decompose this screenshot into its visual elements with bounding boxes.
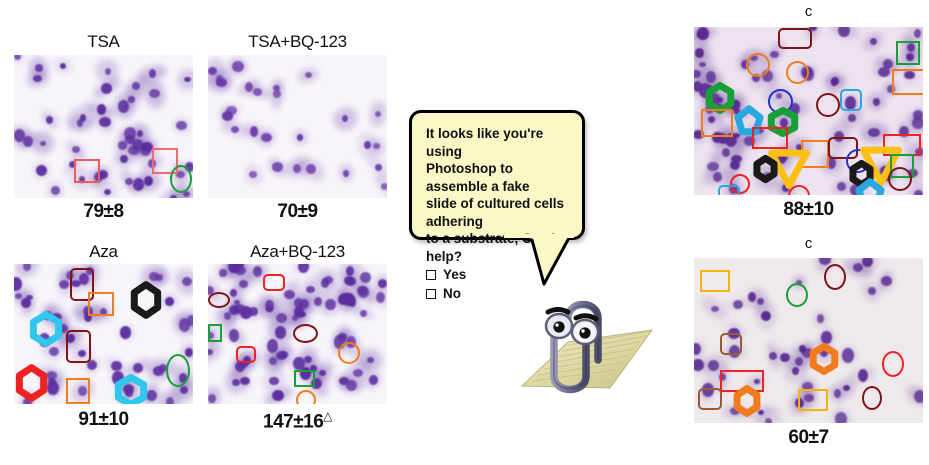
cell-cytoplasm xyxy=(170,183,193,198)
annotation-round-control-bottom-3 xyxy=(720,333,742,355)
cell-cytoplasm xyxy=(213,264,233,283)
cell-cytoplasm xyxy=(881,80,900,99)
cell-cytoplasm xyxy=(90,75,123,102)
panel-value-text: 79±8 xyxy=(83,201,123,222)
panel-title-aza: Aza xyxy=(14,243,193,260)
cell-cytoplasm xyxy=(694,27,712,50)
cell-cytoplasm xyxy=(328,102,362,135)
cell-nucleus xyxy=(184,77,191,82)
cell-nucleus xyxy=(728,328,740,338)
cell-cytoplasm xyxy=(694,39,714,68)
cell-cytoplasm xyxy=(138,264,170,291)
cell-nucleus xyxy=(276,351,287,360)
panel-title-tsa-bq123: TSA+BQ-123 xyxy=(208,33,387,50)
cell-cytoplasm xyxy=(320,269,337,290)
cell-cytoplasm xyxy=(116,377,141,402)
cell-nucleus xyxy=(907,43,916,52)
cell-cytoplasm xyxy=(44,378,62,399)
panel-value-aza: 91±10 xyxy=(14,410,193,429)
cell-cytoplasm xyxy=(69,342,95,365)
cell-nucleus xyxy=(80,114,86,122)
cell-cytoplasm xyxy=(137,142,155,157)
cell-nucleus xyxy=(853,263,863,272)
cell-cytoplasm xyxy=(26,55,51,81)
annotation-ellipse-control-top-1 xyxy=(746,53,770,77)
cell-nucleus xyxy=(26,295,32,300)
cell-cytoplasm xyxy=(293,130,308,145)
cell-cytoplasm xyxy=(289,354,310,373)
cell-cytoplasm xyxy=(154,385,187,404)
cell-nucleus xyxy=(790,103,800,115)
cell-nucleus xyxy=(343,170,350,177)
cell-nucleus xyxy=(801,66,812,77)
cell-nucleus xyxy=(845,96,856,110)
cell-cytoplasm xyxy=(316,290,344,319)
cell-nucleus xyxy=(754,379,760,384)
cell-cytoplasm xyxy=(87,165,109,191)
annotation-hex-control-top-5 xyxy=(708,85,732,111)
cell-nucleus xyxy=(304,356,313,363)
cell-cytoplasm xyxy=(860,29,886,54)
cell-nucleus xyxy=(272,390,284,401)
cell-cytoplasm xyxy=(148,358,179,379)
cell-cytoplasm xyxy=(813,310,827,326)
cell-nucleus xyxy=(873,98,880,106)
cell-nucleus xyxy=(232,264,239,272)
cell-nucleus xyxy=(835,412,847,423)
cell-nucleus xyxy=(694,70,701,78)
cell-nucleus xyxy=(708,116,715,123)
panel-value-control-top: 88±10 xyxy=(694,200,923,219)
cell-cytoplasm xyxy=(769,145,793,174)
annotation-rect-aza-1 xyxy=(88,292,114,316)
cell-cytoplasm xyxy=(221,279,247,307)
cell-nucleus xyxy=(321,278,329,288)
cell-cytoplasm xyxy=(309,358,338,388)
cell-nucleus xyxy=(719,373,727,380)
cell-cytoplasm xyxy=(170,162,191,188)
cell-nucleus xyxy=(224,312,232,320)
cell-cytoplasm xyxy=(735,133,763,150)
checkbox-icon-no[interactable] xyxy=(426,289,436,299)
cell-cytoplasm xyxy=(300,354,328,383)
cell-nucleus xyxy=(730,407,740,415)
cell-nucleus xyxy=(267,339,279,353)
clippy-assistant-icon[interactable] xyxy=(506,290,656,402)
annotation-rect-control-top-12 xyxy=(752,127,788,149)
cell-nucleus xyxy=(694,359,704,371)
panel-value-control-bottom: 60±7 xyxy=(694,428,923,447)
cell-nucleus xyxy=(166,397,174,404)
cell-nucleus xyxy=(799,345,806,354)
cell-nucleus xyxy=(300,299,309,309)
cell-nucleus xyxy=(306,286,315,293)
cell-nucleus xyxy=(827,157,837,169)
cell-cytoplasm xyxy=(91,300,116,324)
annotation-rect-control-top-9 xyxy=(701,109,733,137)
cell-cytoplasm xyxy=(220,102,243,119)
cell-nucleus xyxy=(711,306,719,312)
annotation-hex-control-top-21 xyxy=(852,163,871,185)
cell-nucleus xyxy=(858,369,868,382)
cell-nucleus xyxy=(71,280,81,288)
cell-cytoplasm xyxy=(121,73,151,99)
cell-nucleus xyxy=(868,128,879,137)
annotation-hex-aza-2 xyxy=(133,284,159,316)
cell-nucleus xyxy=(293,357,304,371)
cell-nucleus xyxy=(240,306,252,319)
cell-nucleus xyxy=(105,68,111,75)
cell-cytoplasm xyxy=(871,65,897,79)
cell-cytoplasm xyxy=(873,55,902,73)
cell-cytoplasm xyxy=(811,338,838,366)
cell-cytoplasm xyxy=(14,264,42,280)
cell-cytoplasm xyxy=(828,405,854,423)
cell-nucleus xyxy=(914,190,923,195)
cell-cytoplasm xyxy=(287,296,311,327)
cell-cytoplasm xyxy=(134,138,158,156)
annotation-ellipse-control-bottom-10 xyxy=(862,386,882,410)
cell-cytoplasm xyxy=(330,329,349,355)
cell-cytoplasm xyxy=(73,301,103,320)
cell-cytoplasm xyxy=(270,78,284,110)
cell-nucleus xyxy=(35,64,42,72)
cell-nucleus xyxy=(795,357,803,366)
cell-cytoplasm xyxy=(226,264,252,275)
cell-cytoplasm xyxy=(223,264,244,277)
cell-cytoplasm xyxy=(798,341,817,366)
cell-nucleus xyxy=(346,277,356,286)
cell-cytoplasm xyxy=(243,264,271,285)
cell-cytoplasm xyxy=(728,151,742,179)
cell-nucleus xyxy=(123,384,134,394)
cell-nucleus xyxy=(697,27,709,40)
cell-nucleus xyxy=(695,48,704,57)
cell-cytoplasm xyxy=(39,109,61,131)
cell-cytoplasm xyxy=(145,359,172,383)
cell-nucleus xyxy=(40,141,46,146)
cell-nucleus xyxy=(744,136,756,146)
panel-value-text: 91±10 xyxy=(78,409,128,430)
cell-cytoplasm xyxy=(151,268,169,286)
cell-nucleus xyxy=(104,189,111,195)
cell-nucleus xyxy=(231,126,240,133)
option-no-label: No xyxy=(443,285,461,303)
cell-nucleus xyxy=(232,379,240,386)
annotation-tri-control-top-16 xyxy=(770,151,808,187)
cell-cytoplasm xyxy=(823,75,846,88)
micrograph-tsa-bq123 xyxy=(208,55,387,198)
annotation-rect-control-top-3 xyxy=(896,41,920,65)
cell-cytoplasm xyxy=(280,304,310,332)
cell-cytoplasm xyxy=(694,122,710,146)
cell-nucleus xyxy=(23,264,31,271)
annotation-hex-control-top-20 xyxy=(756,158,775,180)
cell-nucleus xyxy=(87,360,97,370)
panel-value-text: 70±9 xyxy=(277,201,317,222)
cell-cytoplasm xyxy=(31,160,53,181)
cell-cytoplasm xyxy=(694,64,704,84)
cell-cytoplasm xyxy=(829,174,853,195)
cell-nucleus xyxy=(72,146,80,153)
cell-nucleus xyxy=(705,104,714,114)
annotation-rect-control-bottom-6 xyxy=(720,370,764,392)
cell-cytoplasm xyxy=(228,297,251,320)
cell-nucleus xyxy=(353,369,363,377)
cell-cytoplasm xyxy=(839,346,858,366)
cell-cytoplasm xyxy=(796,64,816,80)
cell-cytoplasm xyxy=(261,347,286,375)
cell-cytoplasm xyxy=(243,120,264,142)
cell-nucleus xyxy=(14,277,22,291)
cell-nucleus xyxy=(305,72,312,78)
cell-cytoplasm xyxy=(815,258,835,273)
cell-cytoplasm xyxy=(43,342,66,361)
annotation-ellipse-control-top-17 xyxy=(846,149,870,173)
cell-cytoplasm xyxy=(74,309,103,325)
cell-nucleus xyxy=(722,148,730,157)
cell-cytoplasm xyxy=(113,136,133,155)
cell-cytoplasm xyxy=(14,287,27,304)
annotation-ellipse-control-top-2 xyxy=(786,61,809,84)
cell-cytoplasm xyxy=(292,301,315,329)
cell-cytoplasm xyxy=(348,277,378,308)
cell-nucleus xyxy=(269,377,278,386)
cell-cytoplasm xyxy=(14,126,31,146)
annotation-hex-aza-6 xyxy=(18,367,45,399)
cell-nucleus xyxy=(311,378,322,390)
cell-nucleus xyxy=(222,111,233,121)
cell-nucleus xyxy=(367,357,374,363)
cell-cytoplasm xyxy=(22,286,37,309)
cell-cytoplasm xyxy=(14,55,27,66)
cell-nucleus xyxy=(804,394,814,402)
cell-cytoplasm xyxy=(140,382,162,404)
cell-cytoplasm xyxy=(142,77,168,110)
cell-cytoplasm xyxy=(791,342,814,357)
cell-cytoplasm xyxy=(334,264,365,286)
cell-cytoplasm xyxy=(370,171,387,198)
micrograph-tsa xyxy=(14,55,193,198)
cell-cytoplasm xyxy=(791,274,807,291)
cell-cytoplasm xyxy=(769,107,800,139)
cell-cytoplasm xyxy=(368,100,387,129)
cell-cytoplasm xyxy=(694,75,704,97)
cell-nucleus xyxy=(831,77,839,85)
cell-nucleus xyxy=(276,313,287,323)
cell-cytoplasm xyxy=(117,128,144,152)
cell-nucleus xyxy=(67,334,75,342)
cell-nucleus xyxy=(314,297,322,307)
cell-nucleus xyxy=(234,300,241,305)
cell-cytoplasm xyxy=(85,101,118,119)
cell-cytoplasm xyxy=(874,162,901,189)
cell-cytoplasm xyxy=(116,83,147,115)
cell-nucleus xyxy=(915,148,923,156)
cell-nucleus xyxy=(369,375,378,385)
cell-nucleus xyxy=(182,277,192,286)
cell-cytoplasm xyxy=(720,100,753,124)
cell-nucleus xyxy=(758,410,764,415)
cell-cytoplasm xyxy=(704,90,726,110)
cell-cytoplasm xyxy=(353,305,375,321)
cell-nucleus xyxy=(15,293,22,299)
cell-nucleus xyxy=(233,264,244,269)
cell-nucleus xyxy=(338,333,347,341)
cell-nucleus xyxy=(763,172,771,182)
cell-nucleus xyxy=(185,348,193,357)
annotation-round-control-top-8 xyxy=(840,89,862,111)
cell-cytoplasm xyxy=(754,63,781,90)
cell-nucleus xyxy=(176,171,184,178)
cell-cytoplasm xyxy=(859,122,889,144)
cell-nucleus xyxy=(757,298,764,305)
cell-cytoplasm xyxy=(838,91,863,116)
cell-cytoplasm xyxy=(750,402,787,423)
cell-nucleus xyxy=(725,133,737,147)
cell-cytoplasm xyxy=(701,166,735,188)
cell-nucleus xyxy=(43,311,52,320)
cell-cytoplasm xyxy=(229,350,259,380)
cell-nucleus xyxy=(79,273,89,285)
cell-cytoplasm xyxy=(241,161,264,187)
cell-nucleus xyxy=(33,75,41,82)
cell-cytoplasm xyxy=(35,362,68,390)
cell-nucleus xyxy=(14,129,25,142)
cell-cytoplasm xyxy=(54,314,73,342)
panel-title-tsa: TSA xyxy=(14,33,193,50)
annotation-hex-aza-3 xyxy=(32,314,60,344)
cell-nucleus xyxy=(132,82,140,90)
cell-nucleus xyxy=(133,363,143,373)
cell-nucleus xyxy=(694,343,701,355)
cell-cytoplasm xyxy=(903,138,923,165)
panel-value-tsa: 79±8 xyxy=(14,202,193,221)
cell-cytoplasm xyxy=(293,264,314,275)
annotation-ellipse-control-top-22 xyxy=(888,167,912,191)
cell-cytoplasm xyxy=(746,403,775,422)
cell-cytoplasm xyxy=(224,264,257,286)
cell-cytoplasm xyxy=(41,372,63,392)
cell-nucleus xyxy=(831,79,837,86)
cell-nucleus xyxy=(234,304,245,314)
cell-cytoplasm xyxy=(367,283,387,311)
cell-nucleus xyxy=(748,292,757,302)
cell-cytoplasm xyxy=(17,389,38,404)
cell-cytoplasm xyxy=(160,293,178,310)
cell-cytoplasm xyxy=(63,138,89,162)
cell-cytoplasm xyxy=(55,323,85,355)
cell-nucleus xyxy=(765,418,772,423)
cell-cytoplasm xyxy=(230,292,245,312)
cell-cytoplasm xyxy=(222,368,251,397)
cell-cytoplasm xyxy=(172,266,193,299)
annotation-rect-control-top-4 xyxy=(892,69,923,95)
cell-nucleus xyxy=(273,90,281,98)
cell-nucleus xyxy=(149,89,160,98)
cell-nucleus xyxy=(294,306,304,318)
cell-nucleus xyxy=(741,60,749,69)
cell-nucleus xyxy=(216,75,223,84)
cell-cytoplasm xyxy=(267,342,295,370)
cell-cytoplasm xyxy=(283,156,311,180)
panel-value-superscript: △ xyxy=(323,409,332,423)
checkbox-icon-yes[interactable] xyxy=(426,270,436,280)
cell-nucleus xyxy=(149,69,156,78)
annotation-round-aza-bq123-0 xyxy=(263,274,285,291)
cell-nucleus xyxy=(762,70,773,82)
cell-cytoplasm xyxy=(825,382,849,406)
cell-nucleus xyxy=(338,294,350,305)
cell-nucleus xyxy=(132,139,142,149)
cell-cytoplasm xyxy=(696,95,723,122)
cell-nucleus xyxy=(292,315,299,321)
cell-nucleus xyxy=(120,326,131,339)
cell-cytoplasm xyxy=(820,152,843,174)
cell-nucleus xyxy=(870,38,877,45)
cell-nucleus xyxy=(339,377,349,385)
cell-nucleus xyxy=(795,398,804,408)
cell-cytoplasm xyxy=(909,106,923,125)
cell-cytoplasm xyxy=(113,149,136,170)
annotation-hex-control-bottom-4 xyxy=(812,346,836,372)
cell-nucleus xyxy=(887,85,895,92)
cell-cytoplasm xyxy=(107,366,128,390)
cell-cytoplasm xyxy=(292,293,317,316)
cell-nucleus xyxy=(239,361,248,368)
cell-cytoplasm xyxy=(816,326,836,348)
cell-cytoplasm xyxy=(694,356,711,375)
cell-nucleus xyxy=(838,27,849,37)
cell-nucleus xyxy=(60,63,67,70)
cell-nucleus xyxy=(118,141,127,149)
cell-cytoplasm xyxy=(62,270,90,297)
cell-cytoplasm xyxy=(235,74,265,98)
cell-cytoplasm xyxy=(876,269,896,292)
cell-nucleus xyxy=(729,100,739,111)
cell-cytoplasm xyxy=(35,330,53,350)
cell-nucleus xyxy=(146,390,157,401)
bubble-line-1: It looks like you're using xyxy=(426,125,570,160)
cell-cytoplasm xyxy=(123,356,153,379)
cell-cytoplasm xyxy=(703,155,724,179)
annotation-ellipse-control-top-6 xyxy=(768,89,793,114)
cell-cytoplasm xyxy=(269,306,294,331)
cell-nucleus xyxy=(128,96,135,104)
cell-nucleus xyxy=(265,300,274,311)
annotation-ellipse-aza-bq123-1 xyxy=(208,292,230,308)
cell-nucleus xyxy=(39,333,50,346)
cell-cytoplasm xyxy=(715,361,729,394)
cell-nucleus xyxy=(708,360,719,371)
cell-nucleus xyxy=(229,264,238,273)
annotation-ellipse-control-bottom-2 xyxy=(824,264,846,290)
annotation-round-aza-0 xyxy=(70,268,94,301)
cell-nucleus xyxy=(702,383,714,398)
cell-nucleus xyxy=(882,169,892,181)
cell-nucleus xyxy=(717,97,723,104)
cell-nucleus xyxy=(819,258,831,265)
cell-nucleus xyxy=(77,119,84,127)
cell-cytoplasm xyxy=(58,271,69,297)
cell-cytoplasm xyxy=(857,258,879,273)
cell-cytoplasm xyxy=(696,109,727,131)
cell-cytoplasm xyxy=(256,127,276,147)
cell-cytoplasm xyxy=(344,290,362,313)
cell-nucleus xyxy=(820,347,829,356)
cell-nucleus xyxy=(66,271,74,280)
cell-cytoplasm xyxy=(275,277,304,312)
